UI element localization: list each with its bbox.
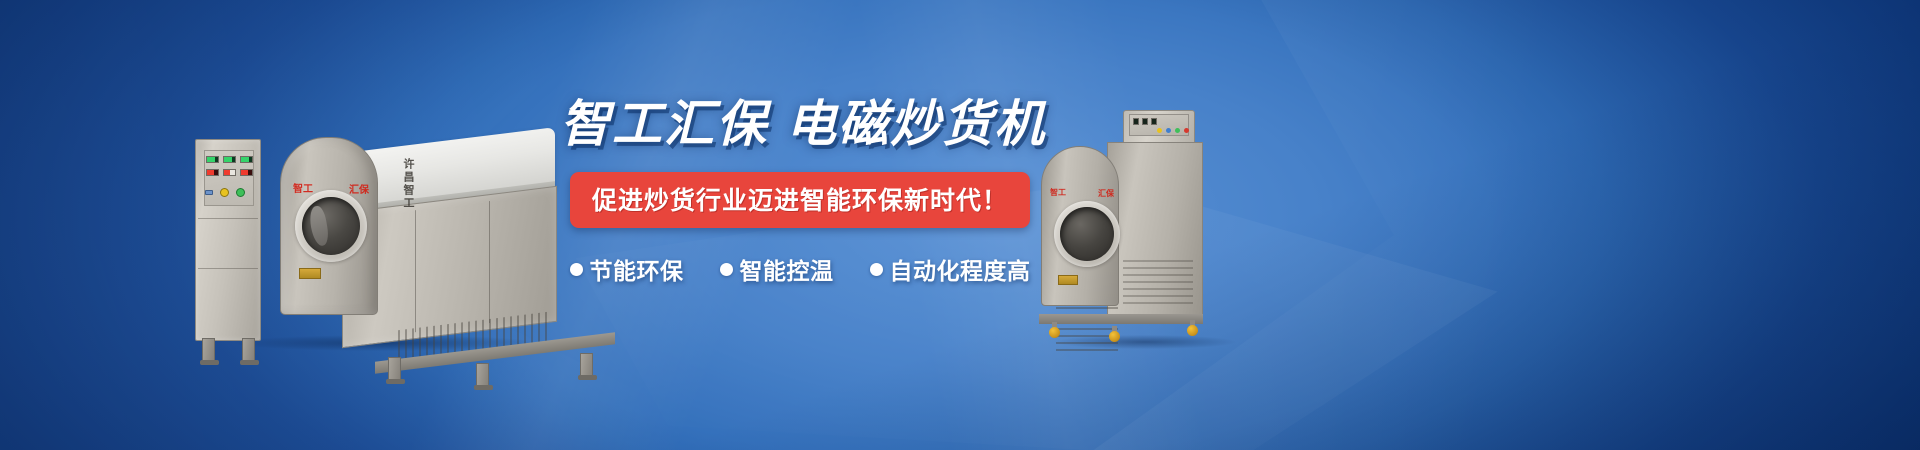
banner-title-part-1: 智工汇保 xyxy=(560,96,768,152)
machine-left-leg-3 xyxy=(580,353,593,377)
machine-right-caster-3 xyxy=(1187,320,1198,336)
machine-right-drum-logo-left: 智工 xyxy=(1050,187,1066,198)
machine-left-leg-1 xyxy=(388,357,401,381)
bullet-dot-icon xyxy=(570,263,583,276)
machine-left-knob-yellow[interactable] xyxy=(220,188,229,197)
machine-left-body: 智工 汇保 许昌智工 xyxy=(280,125,550,325)
machine-right-knob-blue[interactable] xyxy=(1166,128,1171,133)
machine-left-panel-seam-2 xyxy=(198,268,258,269)
feature-item-3: 自动化程度高 xyxy=(870,252,1031,286)
machine-left-drum-logo-left: 智工 xyxy=(293,180,313,195)
feature-label-2: 智能控温 xyxy=(740,252,834,286)
machine-left-control-row[interactable] xyxy=(205,188,245,197)
machine-right-display-2 xyxy=(1142,118,1148,125)
banner-title: 智工汇保电磁炒货机 xyxy=(560,96,1040,152)
machine-left-meter-3 xyxy=(240,169,253,176)
machine-right: 智工 汇保 xyxy=(1035,100,1235,350)
banner-feature-list: 节能环保 智能控温 自动化程度高 xyxy=(560,252,1040,286)
machine-right-knob-yellow[interactable] xyxy=(1157,128,1162,133)
machine-left-cabinet-leg-1 xyxy=(202,338,215,362)
machine-left-door-seam-1 xyxy=(415,210,416,332)
machine-left-display-2 xyxy=(223,156,236,163)
machine-left-drum-logo-right: 汇保 xyxy=(349,181,369,196)
machine-left-display-1 xyxy=(206,156,219,163)
banner-ribbon-wrap: 促进炒货行业迈进智能环保新时代！ xyxy=(560,172,1040,228)
bullet-dot-icon xyxy=(870,263,883,276)
feature-label-1: 节能环保 xyxy=(590,252,684,286)
machine-left-meter-row xyxy=(206,169,253,176)
machine-right-display-3 xyxy=(1151,118,1157,125)
machine-left-hood: 智工 汇保 xyxy=(280,137,378,315)
machine-right-display-row xyxy=(1133,118,1157,125)
banner-title-part-2: 电磁炒货机 xyxy=(786,96,1046,152)
machine-right-control-row[interactable] xyxy=(1157,128,1189,133)
machine-right-display-1 xyxy=(1133,118,1139,125)
machine-right-vent-grille-rear xyxy=(1123,256,1193,304)
machine-right-drum-logo-right: 汇保 xyxy=(1098,188,1114,199)
machine-right-knob-green[interactable] xyxy=(1175,128,1180,133)
machine-left-display-3 xyxy=(240,156,253,163)
banner-slogan-ribbon: 促进炒货行业迈进智能环保新时代！ xyxy=(570,172,1030,228)
feature-item-2: 智能控温 xyxy=(720,252,834,286)
machine-left-cabinet-leg-2 xyxy=(242,338,255,362)
machine-left-switch-blue[interactable] xyxy=(205,190,213,195)
machine-right-base xyxy=(1039,314,1203,324)
machine-left-button-green[interactable] xyxy=(236,188,245,197)
machine-right-caster-2 xyxy=(1109,326,1120,342)
machine-left-meter-1 xyxy=(206,169,219,176)
machine-left-display-row xyxy=(206,156,253,163)
machine-left-door-seam-2 xyxy=(489,201,490,323)
machine-right-knob-red[interactable] xyxy=(1184,128,1189,133)
product-hero-banner: 智工 汇保 许昌智工 xyxy=(0,0,1920,450)
machine-left-meter-2 xyxy=(223,169,236,176)
machine-right-drum-opening xyxy=(1060,207,1114,261)
banner-copy-block: 智工汇保电磁炒货机 促进炒货行业迈进智能环保新时代！ 节能环保 智能控温 自动化… xyxy=(560,96,1040,286)
feature-label-3: 自动化程度高 xyxy=(890,252,1031,286)
machine-right-hood: 智工 汇保 xyxy=(1041,146,1119,306)
machine-right-brass-nameplate xyxy=(1058,275,1078,285)
feature-item-1: 节能环保 xyxy=(570,252,684,286)
machine-right-caster-1 xyxy=(1049,322,1060,338)
machine-left-control-cabinet xyxy=(195,139,261,341)
machine-left-leg-2 xyxy=(476,363,489,387)
machine-left-side-text: 许昌智工 xyxy=(400,158,416,210)
machine-left-brass-nameplate xyxy=(299,268,321,279)
bullet-dot-icon xyxy=(720,263,733,276)
machine-left-panel-seam-1 xyxy=(198,218,258,219)
machine-left: 智工 汇保 许昌智工 xyxy=(185,95,560,360)
